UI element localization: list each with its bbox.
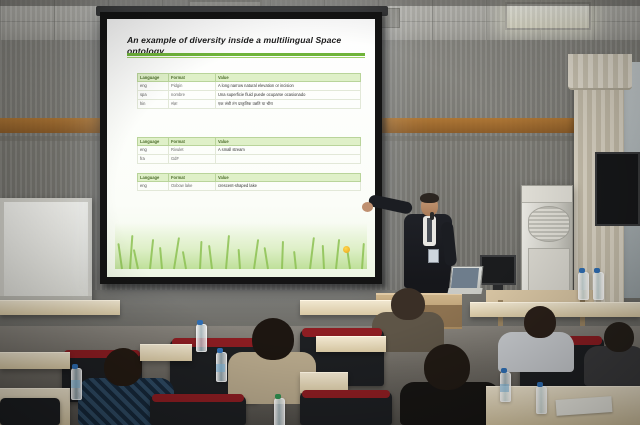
bottle-cap xyxy=(501,368,507,373)
slide-table-1: Language Format Value eng Pidgin A long … xyxy=(137,73,361,109)
bottle-label xyxy=(216,364,225,372)
audience-head xyxy=(524,306,556,338)
table-row: eng Pidgin A long narrow natural elevati… xyxy=(138,82,361,91)
cell-format: Rivulet xyxy=(169,146,216,155)
cell-value: Una superficie fluid puede ocuparse ocas… xyxy=(216,91,361,100)
audience-desk-mid xyxy=(140,344,192,361)
water-bottle xyxy=(196,324,207,352)
table-row: eng Oxbow lake crescent-shaped lake xyxy=(138,182,361,191)
bottle-cap xyxy=(72,364,78,369)
presenter-right-hand xyxy=(362,202,373,212)
col-value: Value xyxy=(216,138,361,146)
slide-grass-decoration xyxy=(115,223,367,269)
slide-table-2: Language Format Value eng Rivulet A smal… xyxy=(137,137,361,164)
whiteboard xyxy=(0,198,92,304)
cell-language: fra xyxy=(138,155,169,164)
col-language: Language xyxy=(138,174,169,182)
audience-head xyxy=(104,348,142,386)
cell-format: GdF xyxy=(169,155,216,164)
audience-head xyxy=(424,344,470,390)
curtain-valance xyxy=(568,54,632,90)
cell-format: Pidgin xyxy=(169,82,216,91)
col-language: Language xyxy=(138,74,169,82)
presentation-slide: An example of diversity inside a multili… xyxy=(107,19,375,277)
table-row: hin संज्ञा एक लंबी तंग प्राकृतिक उन्नति … xyxy=(138,100,361,109)
cell-language: hin xyxy=(138,100,169,109)
table-row: spa nombre Una superficie fluid puede oc… xyxy=(138,91,361,100)
audience-head xyxy=(252,318,294,360)
col-format: Format xyxy=(169,138,216,146)
audience-head xyxy=(604,322,634,352)
audience-shoulders xyxy=(584,346,640,386)
cell-value: A small stream xyxy=(216,146,361,155)
cell-value xyxy=(216,155,361,164)
projection-screen: An example of diversity inside a multili… xyxy=(100,12,382,284)
audience-desk-far-left xyxy=(0,300,120,315)
cell-format: nombre xyxy=(169,91,216,100)
water-bottle xyxy=(536,386,547,414)
air-conditioner xyxy=(521,185,573,300)
cell-value: एक लंबी तंग प्राकृतिक उन्नति या चीरा xyxy=(216,100,361,109)
bottle-cap xyxy=(594,268,600,273)
wall-monitor xyxy=(595,152,640,226)
audience-desk-center xyxy=(316,336,386,352)
ac-grill-icon xyxy=(528,206,570,242)
col-value: Value xyxy=(216,74,361,82)
col-language: Language xyxy=(138,138,169,146)
cell-language: eng xyxy=(138,82,169,91)
cell-language: spa xyxy=(138,91,169,100)
water-bottle xyxy=(593,272,604,300)
chair-headrest xyxy=(152,394,244,402)
ac-panel xyxy=(528,248,570,296)
laptop-keyboard xyxy=(447,288,482,294)
cell-value: crescent-shaped lake xyxy=(216,182,361,191)
bottle-cap xyxy=(197,320,203,325)
slide-title-rule xyxy=(127,53,365,56)
bottle-cap xyxy=(579,268,585,273)
water-bottle xyxy=(274,398,285,425)
photo-scene: An example of diversity inside a multili… xyxy=(0,0,640,425)
chair xyxy=(0,398,60,425)
bottle-label xyxy=(500,384,509,392)
col-format: Format xyxy=(169,74,216,82)
slide-table-3: Language Format Value eng Oxbow lake cre… xyxy=(137,173,361,191)
audience-shoulders xyxy=(498,332,574,372)
bottle-cap xyxy=(275,394,281,399)
slide-flower-icon xyxy=(343,246,350,253)
chair-headrest xyxy=(302,390,390,398)
cell-language: eng xyxy=(138,146,169,155)
col-format: Format xyxy=(169,174,216,182)
table-row: eng Rivulet A small stream xyxy=(138,146,361,155)
audience-head xyxy=(391,288,425,320)
cell-language: eng xyxy=(138,182,169,191)
cell-format: संज्ञा xyxy=(169,100,216,109)
presenter-hair xyxy=(420,193,439,203)
laptop-screen xyxy=(451,268,479,288)
bottle-cap xyxy=(217,348,223,353)
bottle-cap xyxy=(537,382,543,387)
presenter-tie xyxy=(427,218,432,242)
table-row: fra GdF xyxy=(138,155,361,164)
desktop-monitor xyxy=(480,255,516,285)
audience-desk-left xyxy=(0,352,70,369)
water-bottle xyxy=(578,272,589,300)
slide-title-rule-thin xyxy=(127,57,365,58)
cell-format: Oxbow lake xyxy=(169,182,216,191)
col-value: Value xyxy=(216,174,361,182)
audience-desk-far-far-right xyxy=(470,302,640,317)
microphone xyxy=(430,212,434,220)
presenter-badge xyxy=(428,249,439,263)
cell-value: A long narrow natural elevation or incis… xyxy=(216,82,361,91)
bottle-label xyxy=(71,380,80,388)
